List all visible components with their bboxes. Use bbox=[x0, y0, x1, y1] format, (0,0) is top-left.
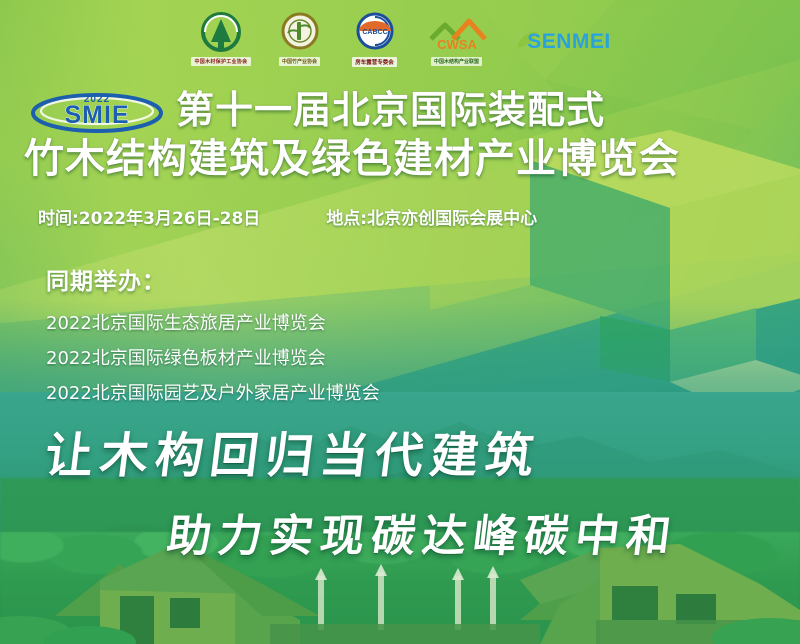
senmei-leaf-logo-icon: SENMEI bbox=[513, 22, 609, 56]
assoc-logo-label: 房车露营专委会 bbox=[352, 57, 397, 67]
assoc-logo-cabcc: CABCC 房车露营专委会 bbox=[349, 12, 401, 67]
assoc-logo-cwsa: CWSA 中国木结构产业联盟 bbox=[425, 13, 489, 66]
assoc-logo-bamboo-association: 中国竹产业协会 bbox=[275, 12, 325, 66]
bamboo-seal-logo-icon bbox=[275, 12, 325, 56]
concurrent-events-title: 同期举办： bbox=[46, 262, 380, 296]
smie-wordmark: SMIE bbox=[64, 101, 129, 129]
slogan-block: 让木构回归当代建筑 助力实现碳达峰碳中和 bbox=[0, 416, 800, 564]
terrace-umbrellas bbox=[270, 564, 540, 644]
assoc-logo-label: 中国木结构产业联盟 bbox=[431, 57, 482, 66]
event-venue: 地点:北京亦创国际会展中心 bbox=[326, 204, 537, 229]
headline-line1-row: 2022 SMIE 第十一届北京国际装配式 bbox=[0, 88, 800, 134]
concurrent-event-item: 2022北京国际生态旅居产业博览会 bbox=[46, 306, 380, 341]
cabcc-acronym: CABCC bbox=[362, 29, 387, 36]
event-date: 时间:2022年3月26日-28日 bbox=[38, 204, 260, 229]
slogan-line-2: 助力实现碳达峰碳中和 bbox=[0, 500, 800, 564]
association-logo-bar: 中国木材保护工业协会 中国竹产业协会 CABCC 房车露营专委会 bbox=[0, 6, 800, 72]
tree-shield-logo-icon bbox=[193, 12, 249, 56]
assoc-logo-china-wood-protection: 中国木材保护工业协会 bbox=[191, 12, 250, 66]
assoc-logo-label: 中国竹产业协会 bbox=[279, 57, 320, 66]
concurrent-event-item: 2022北京国际园艺及户外家居产业博览会 bbox=[46, 376, 380, 411]
cwsa-acronym: CWSA bbox=[437, 37, 477, 52]
event-meta: 时间:2022年3月26日-28日 地点:北京亦创国际会展中心 bbox=[38, 204, 537, 229]
senmei-wordmark: SENMEI bbox=[527, 30, 609, 53]
exhibition-poster: 中国木材保护工业协会 中国竹产业协会 CABCC 房车露营专委会 bbox=[0, 0, 800, 644]
smie-oval-logo-icon: 2022 SMIE bbox=[28, 88, 166, 134]
cabcc-roundel-logo-icon: CABCC bbox=[349, 12, 401, 56]
concurrent-event-item: 2022北京国际绿色板材产业博览会 bbox=[46, 341, 380, 376]
headline-line1: 第十一届北京国际装配式 bbox=[176, 90, 605, 131]
headline-block: 2022 SMIE 第十一届北京国际装配式 竹木结构建筑及绿色建材产业博览会 bbox=[0, 88, 800, 181]
slogan-line-1: 让木构回归当代建筑 bbox=[0, 416, 800, 486]
headline-line2: 竹木结构建筑及绿色建材产业博览会 bbox=[0, 138, 800, 181]
concurrent-events: 同期举办： 2022北京国际生态旅居产业博览会 2022北京国际绿色板材产业博览… bbox=[46, 262, 380, 411]
assoc-logo-label: 中国木材保护工业协会 bbox=[191, 57, 250, 66]
assoc-logo-senmei: SENMEI bbox=[513, 22, 609, 56]
house-cwsa-logo-icon: CWSA bbox=[425, 13, 489, 57]
